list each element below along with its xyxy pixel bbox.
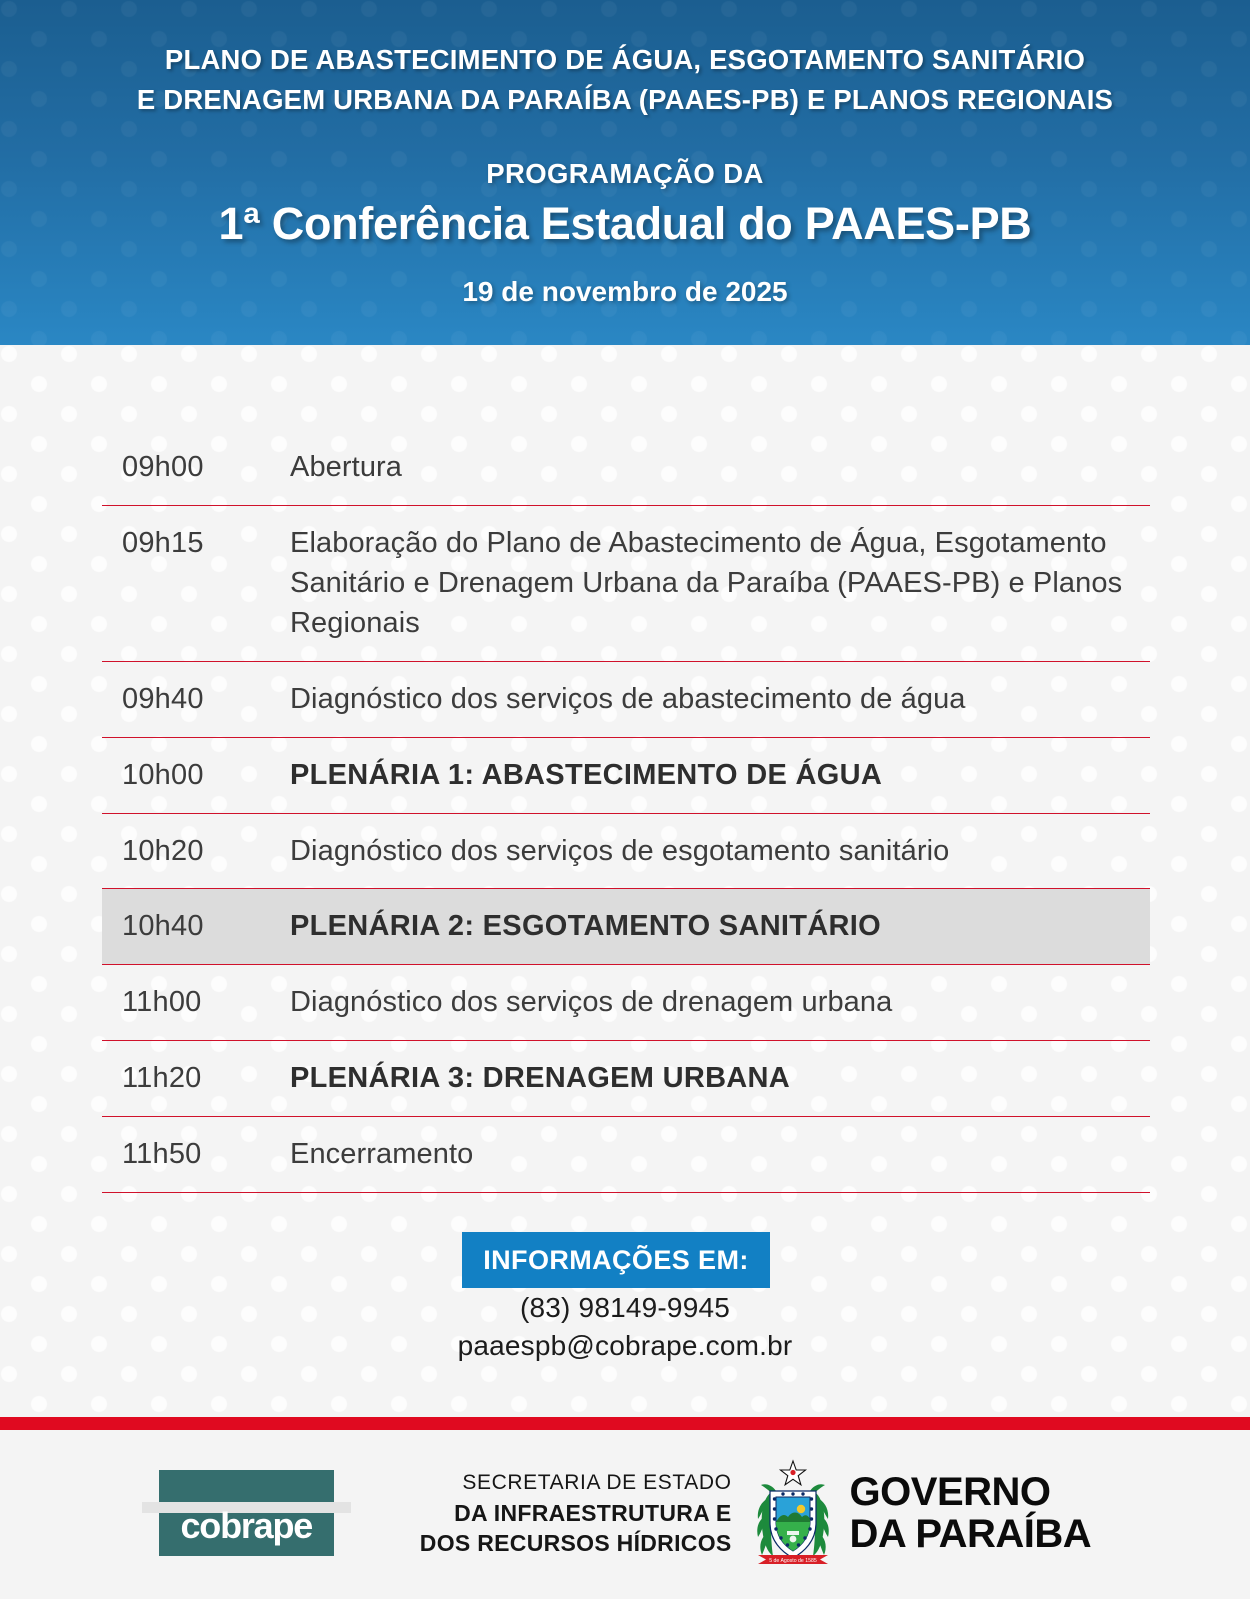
schedule-row-time: 11h50: [102, 1134, 290, 1174]
schedule-row: 09h00Abertura: [102, 432, 1150, 506]
schedule-row-time: 09h40: [102, 679, 290, 719]
schedule-row: 11h20PLENÁRIA 3: DRENAGEM URBANA: [102, 1041, 1150, 1117]
schedule-row: 11h00Diagnóstico dos serviços de drenage…: [102, 965, 1150, 1041]
informacoes-badge: INFORMAÇÕES EM:: [462, 1232, 770, 1288]
contact-email[interactable]: paaespb@cobrape.com.br: [0, 1330, 1250, 1362]
poster-header: PLANO DE ABASTECIMENTO DE ÁGUA, ESGOTAME…: [0, 0, 1250, 345]
plan-title: PLANO DE ABASTECIMENTO DE ÁGUA, ESGOTAME…: [0, 40, 1250, 120]
schedule-row-description: Encerramento: [290, 1134, 1150, 1174]
secretaria-line-3: DOS RECURSOS HÍDRICOS: [420, 1528, 732, 1558]
schedule-row-time: 10h00: [102, 755, 290, 795]
schedule-row: 10h20Diagnóstico dos serviços de esgotam…: [102, 814, 1150, 890]
secretaria-line-1: SECRETARIA DE ESTADO: [420, 1468, 732, 1498]
governo-line-1: GOVERNO: [850, 1471, 1092, 1513]
schedule-row-description: PLENÁRIA 2: ESGOTAMENTO SANITÁRIO: [290, 906, 1150, 946]
secretaria-logo-text: SECRETARIA DE ESTADO DA INFRAESTRUTURA E…: [420, 1468, 732, 1558]
schedule-row-description: Abertura: [290, 447, 1150, 487]
cobrape-wordmark: cobrape: [159, 1504, 334, 1548]
schedule-row: 11h50Encerramento: [102, 1117, 1150, 1193]
schedule-row: 10h40PLENÁRIA 2: ESGOTAMENTO SANITÁRIO: [102, 888, 1150, 965]
schedule-row-time: 10h40: [102, 906, 290, 946]
schedule-row: 09h15Elaboração do Plano de Abasteciment…: [102, 506, 1150, 662]
schedule-row-description: Diagnóstico dos serviços de abasteciment…: [290, 679, 1150, 719]
schedule-row: 10h00PLENÁRIA 1: ABASTECIMENTO DE ÁGUA: [102, 738, 1150, 814]
plan-title-line-2: E DRENAGEM URBANA DA PARAÍBA (PAAES-PB) …: [0, 80, 1250, 120]
schedule-row-description: Diagnóstico dos serviços de drenagem urb…: [290, 982, 1150, 1022]
footer-red-divider: [0, 1417, 1250, 1430]
footer-logos: cobrape SECRETARIA DE ESTADO DA INFRAEST…: [0, 1455, 1250, 1570]
conference-title: 1ª Conferência Estadual do PAAES-PB: [0, 198, 1250, 250]
schedule-row-description: Elaboração do Plano de Abastecimento de …: [290, 523, 1150, 643]
governo-line-2: DA PARAÍBA: [850, 1513, 1092, 1555]
program-label: PROGRAMAÇÃO DA: [0, 158, 1250, 190]
paraiba-coat-of-arms-icon: 5 de Agosto de 1585: [754, 1459, 832, 1567]
schedule-row-description: PLENÁRIA 3: DRENAGEM URBANA: [290, 1058, 1150, 1098]
schedule-row: 09h40Diagnóstico dos serviços de abastec…: [102, 662, 1150, 738]
poster-root: PLANO DE ABASTECIMENTO DE ÁGUA, ESGOTAME…: [0, 0, 1250, 1599]
schedule-table: 09h00Abertura09h15Elaboração do Plano de…: [102, 432, 1150, 1193]
svg-text:5 de Agosto de 1585: 5 de Agosto de 1585: [769, 1558, 817, 1564]
schedule-row-time: 09h00: [102, 447, 290, 487]
secretaria-line-2: DA INFRAESTRUTURA E: [420, 1498, 732, 1528]
conference-date: 19 de novembro de 2025: [0, 276, 1250, 308]
schedule-row-time: 11h20: [102, 1058, 290, 1098]
cobrape-logo: cobrape: [159, 1470, 334, 1556]
contact-phone[interactable]: (83) 98149-9945: [0, 1292, 1250, 1324]
schedule-row-description: Diagnóstico dos serviços de esgotamento …: [290, 831, 1150, 871]
plan-title-line-1: PLANO DE ABASTECIMENTO DE ÁGUA, ESGOTAME…: [0, 40, 1250, 80]
governo-da-paraiba-wordmark: GOVERNO DA PARAÍBA: [850, 1471, 1092, 1555]
schedule-row-description: PLENÁRIA 1: ABASTECIMENTO DE ÁGUA: [290, 755, 1150, 795]
schedule-row-time: 11h00: [102, 982, 290, 1022]
schedule-row-time: 09h15: [102, 523, 290, 563]
schedule-row-time: 10h20: [102, 831, 290, 871]
